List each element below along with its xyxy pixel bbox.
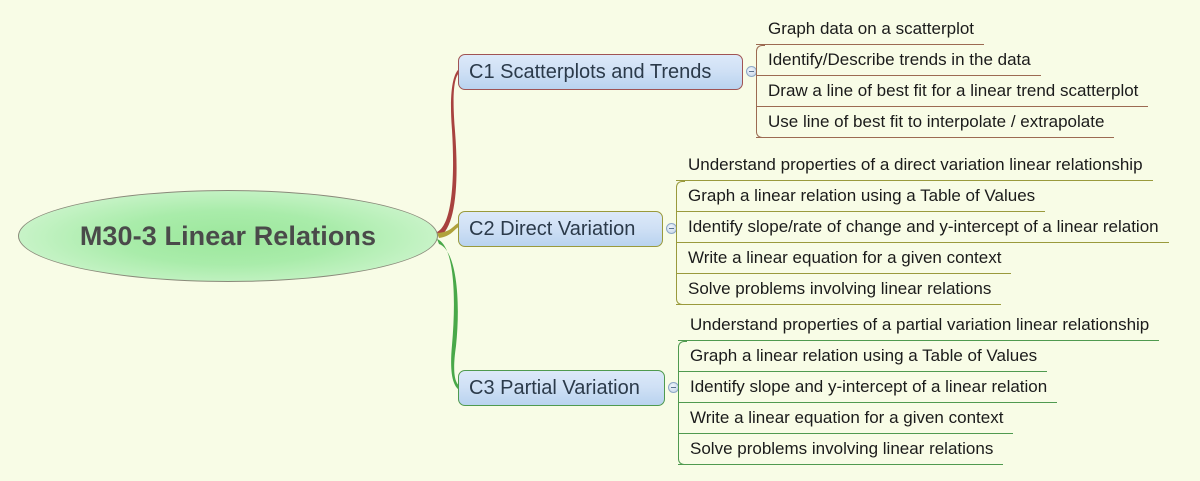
- leaf-item[interactable]: Graph a linear relation using a Table of…: [678, 341, 1149, 372]
- leaf-label: Graph a linear relation using a Table of…: [676, 186, 1035, 208]
- leaf-underline: [676, 304, 1001, 305]
- leaf-label: Understand properties of a direct variat…: [676, 155, 1143, 177]
- leaf-item[interactable]: Graph data on a scatterplot: [756, 14, 1138, 45]
- leaf-bracket: [756, 45, 765, 138]
- leaf-bracket: [678, 341, 687, 465]
- leaf-label: Write a linear equation for a given cont…: [676, 248, 1001, 270]
- leaf-label: Identify/Describe trends in the data: [756, 50, 1031, 72]
- connector-c2: [437, 222, 460, 238]
- root-node[interactable]: M30-3 Linear Relations: [18, 190, 438, 282]
- leaf-label: Solve problems involving linear relation…: [676, 279, 991, 301]
- branch-node-c3[interactable]: C3 Partial Variation: [458, 370, 665, 406]
- leaf-label: Write a linear equation for a given cont…: [678, 408, 1003, 430]
- leaf-item[interactable]: Understand properties of a partial varia…: [678, 310, 1149, 341]
- leaf-label: Draw a line of best fit for a linear tre…: [756, 81, 1138, 103]
- leaf-label: Use line of best fit to interpolate / ex…: [756, 112, 1104, 134]
- branch-node-c1[interactable]: C1 Scatterplots and Trends: [458, 54, 743, 90]
- mindmap-canvas: M30-3 Linear Relations C1 Scatterplots a…: [0, 0, 1200, 481]
- leaf-item[interactable]: Solve problems involving linear relation…: [678, 434, 1149, 465]
- leaf-label: Graph a linear relation using a Table of…: [678, 346, 1037, 368]
- leaf-item[interactable]: Use line of best fit to interpolate / ex…: [756, 107, 1138, 138]
- branch-label-c3: C3 Partial Variation: [469, 377, 640, 400]
- connector-c1: [437, 69, 459, 237]
- leaf-underline: [678, 464, 1003, 465]
- branch-label-c1: C1 Scatterplots and Trends: [469, 61, 711, 84]
- root-label: M30-3 Linear Relations: [80, 221, 376, 252]
- leaf-item[interactable]: Write a linear equation for a given cont…: [676, 243, 1159, 274]
- leaf-group-c3: Understand properties of a partial varia…: [678, 310, 1149, 465]
- leaf-label: Identify slope and y-intercept of a line…: [678, 377, 1047, 399]
- branch-node-c2[interactable]: C2 Direct Variation: [458, 211, 663, 247]
- leaf-item[interactable]: Identify slope/rate of change and y-inte…: [676, 212, 1159, 243]
- leaf-label: Understand properties of a partial varia…: [678, 315, 1149, 337]
- leaf-item[interactable]: Draw a line of best fit for a linear tre…: [756, 76, 1138, 107]
- leaf-item[interactable]: Identify/Describe trends in the data: [756, 45, 1138, 76]
- leaf-item[interactable]: Solve problems involving linear relation…: [676, 274, 1159, 305]
- leaf-item[interactable]: Identify slope and y-intercept of a line…: [678, 372, 1149, 403]
- leaf-group-c1: Graph data on a scatterplotIdentify/Desc…: [756, 14, 1138, 138]
- leaf-item[interactable]: Graph a linear relation using a Table of…: [676, 181, 1159, 212]
- connector-c3: [437, 239, 461, 391]
- leaf-group-c2: Understand properties of a direct variat…: [676, 150, 1159, 305]
- branch-label-c2: C2 Direct Variation: [469, 218, 635, 241]
- leaf-item[interactable]: Write a linear equation for a given cont…: [678, 403, 1149, 434]
- leaf-label: Identify slope/rate of change and y-inte…: [676, 217, 1159, 239]
- leaf-item[interactable]: Understand properties of a direct variat…: [676, 150, 1159, 181]
- leaf-underline: [756, 137, 1114, 138]
- leaf-bracket: [676, 181, 685, 305]
- leaf-label: Solve problems involving linear relation…: [678, 439, 993, 461]
- leaf-label: Graph data on a scatterplot: [756, 19, 974, 41]
